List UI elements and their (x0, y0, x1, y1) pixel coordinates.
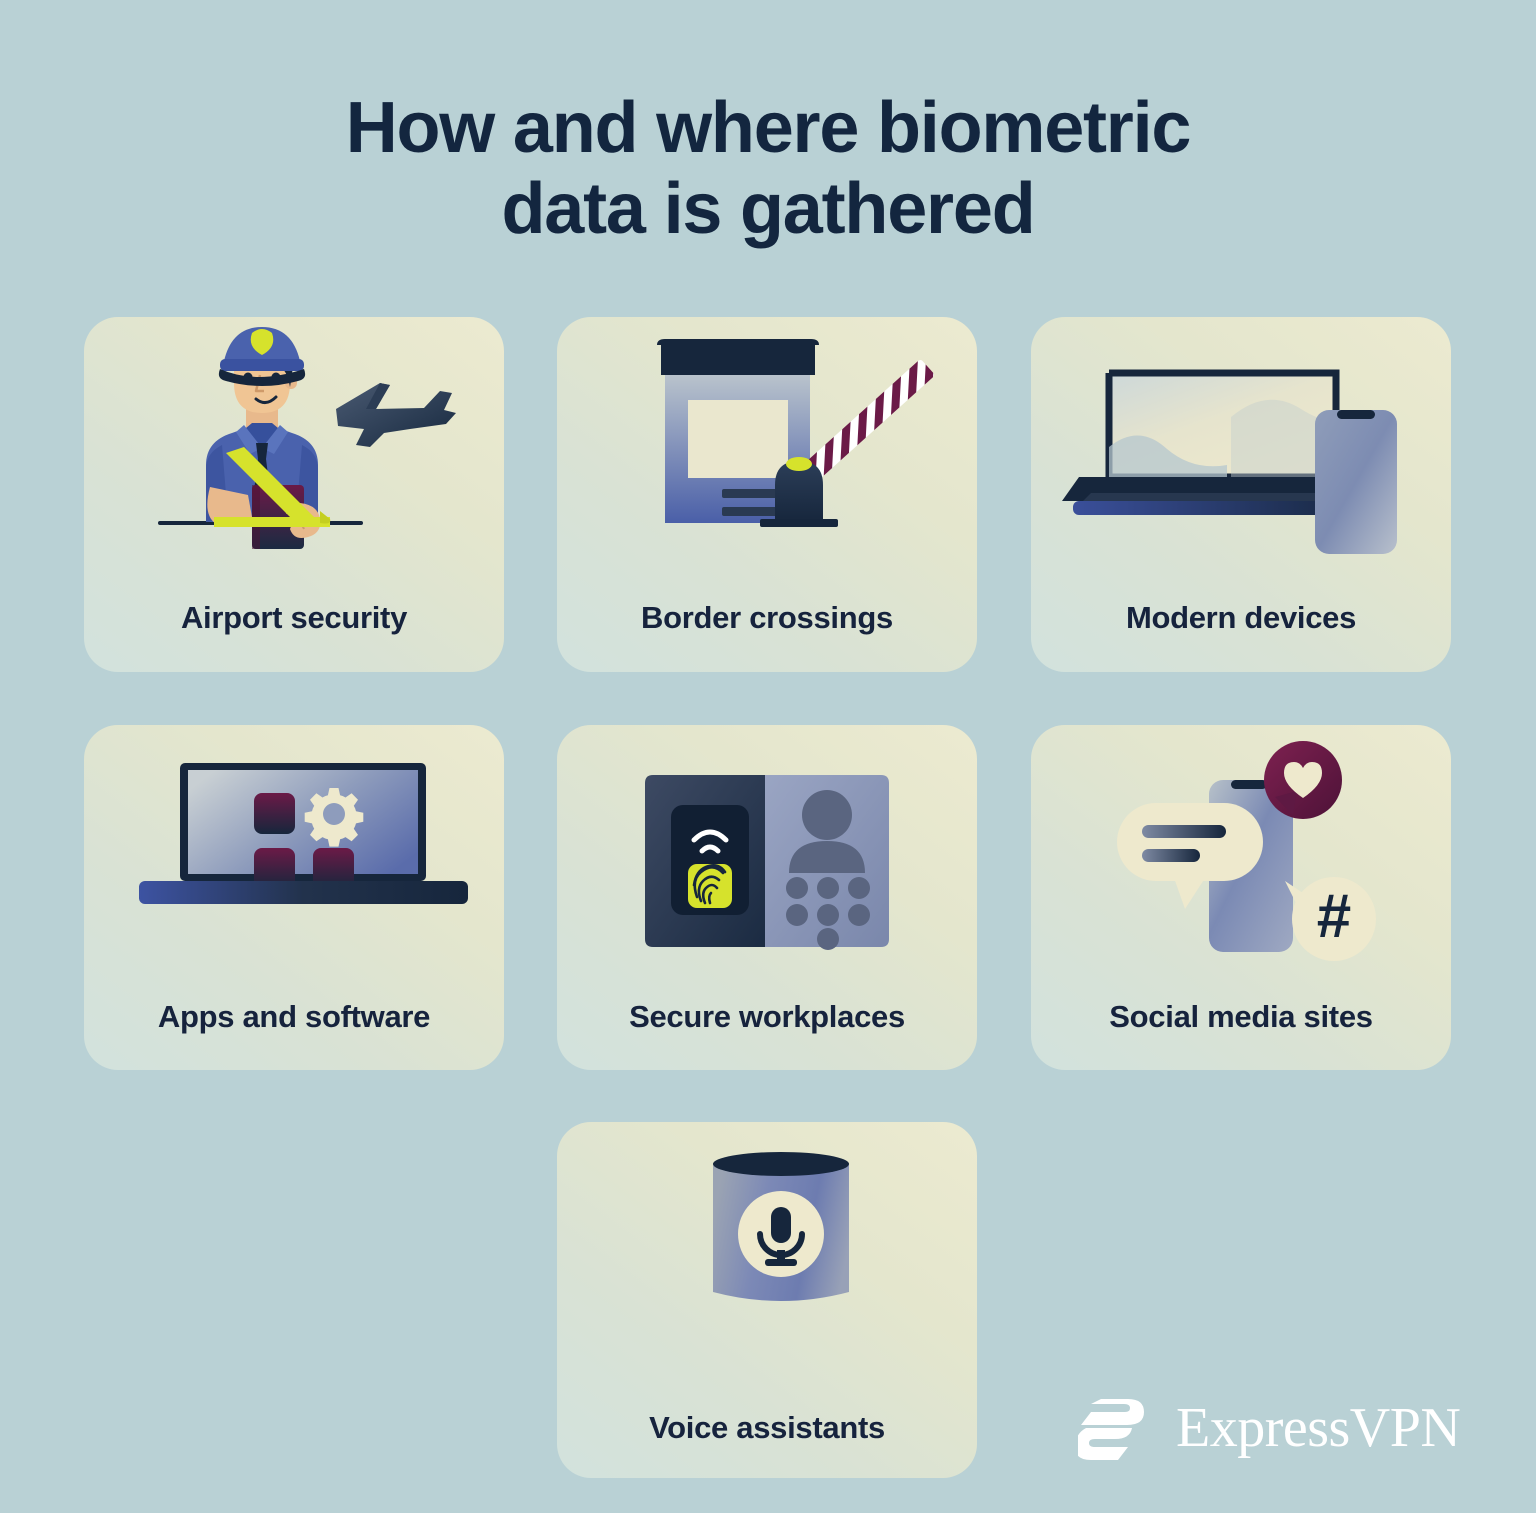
card-label: Secure workplaces (557, 999, 977, 1035)
smart-speaker-microphone-illustration (557, 1122, 977, 1392)
expressvpn-logo: ExpressVPN (1078, 1382, 1438, 1474)
card-label: Apps and software (84, 999, 504, 1035)
fingerprint-icon (688, 864, 732, 908)
card-modern-devices: Modern devices (1031, 317, 1451, 672)
chat-line (1142, 825, 1226, 838)
card-label: Social media sites (1031, 999, 1451, 1035)
laptop-smartphone-illustration (1031, 317, 1451, 585)
card-label: Border crossings (557, 600, 977, 636)
smartphone-icon (1315, 410, 1397, 554)
phone-chat-heart-hashtag-illustration: # (1031, 725, 1451, 983)
access-control-fingerprint-keypad-illustration (557, 725, 977, 983)
page-title-line-2: data is gathered (0, 169, 1536, 250)
card-secure-workplaces: Secure workplaces (557, 725, 977, 1070)
card-apps-and-software: Apps and software (84, 725, 504, 1070)
border-booth-barrier-illustration (557, 317, 977, 585)
app-tile (254, 793, 295, 834)
card-label: Airport security (84, 600, 504, 636)
police-cap-icon (219, 327, 305, 386)
svg-text:#: # (1317, 882, 1351, 951)
hashtag-bubble-icon: # (1285, 877, 1376, 961)
card-airport-security: Airport security (84, 317, 504, 672)
expressvpn-wordmark: ExpressVPN (1176, 1400, 1460, 1456)
card-social-media-sites: # Social media sites (1031, 725, 1451, 1070)
barrier-post (775, 457, 823, 523)
barrier-arm (799, 359, 936, 485)
airplane-icon (336, 383, 456, 447)
police-officer-airplane-illustration (84, 317, 504, 585)
card-voice-assistants: Voice assistants (557, 1122, 977, 1478)
expressvpn-e-mark (1078, 1388, 1158, 1468)
chat-line (1142, 849, 1200, 862)
laptop-app-tiles-gear-illustration (84, 725, 504, 983)
microphone-icon (738, 1191, 824, 1277)
card-label: Voice assistants (557, 1410, 977, 1446)
heart-pin-icon (1264, 741, 1342, 819)
gear-icon (305, 788, 364, 847)
infographic-page: How and where biometric data is gathered (0, 0, 1536, 1513)
page-title: How and where biometric data is gathered (0, 88, 1536, 251)
card-label: Modern devices (1031, 600, 1451, 636)
card-border-crossings: Border crossings (557, 317, 977, 672)
page-title-line-1: How and where biometric (346, 88, 1191, 168)
